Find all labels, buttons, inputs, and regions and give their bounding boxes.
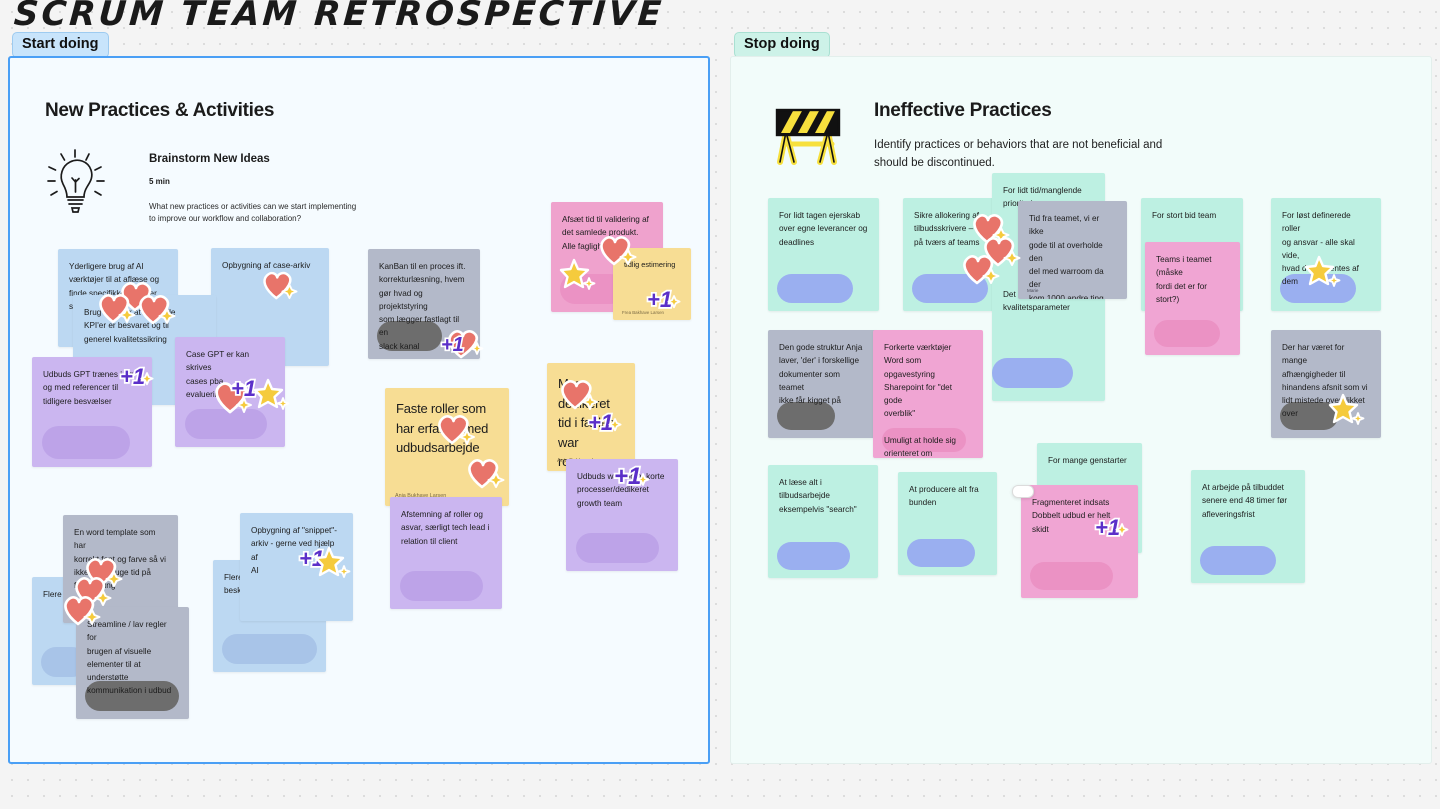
sticky-note[interactable]: Der har været for mange afhængigheder ti…: [1271, 330, 1381, 438]
sticky-note[interactable]: At producere alt fra bunden: [898, 472, 997, 575]
plus-one-reaction-sticker[interactable]: +1: [585, 406, 621, 438]
plus-one-label: +1: [1095, 515, 1120, 540]
heart-reaction-sticker[interactable]: [63, 592, 103, 626]
sticky-note[interactable]: Teams i teamet (måske fordi det er for s…: [1145, 242, 1240, 355]
note-blob: [42, 426, 130, 459]
note-text: Forkerte værktøjer Word som opgavestyrin…: [884, 341, 972, 458]
note-text: Afstemning af roller og asvar, særligt t…: [401, 508, 491, 548]
note-blob: [777, 274, 853, 303]
heading-ineffective-practices: Ineffective Practices: [874, 100, 1051, 122]
plus-one-reaction-sticker[interactable]: +1: [644, 283, 680, 315]
note-blob: [1154, 320, 1220, 347]
barrier-icon: [772, 104, 844, 166]
frame-label-stop-doing[interactable]: Stop doing: [734, 32, 830, 58]
note-blob: [400, 571, 483, 601]
note-text: Teams i teamet (måske fordi det er for s…: [1156, 253, 1229, 306]
heart-reaction-sticker[interactable]: [962, 251, 1002, 285]
plus-one-label: +1: [647, 287, 672, 312]
note-blob: [1200, 546, 1276, 575]
plus-one-reaction-sticker[interactable]: +1: [441, 325, 485, 359]
star-reaction-sticker[interactable]: [1306, 255, 1340, 287]
plus-one-label: +1: [588, 410, 613, 435]
heart-reaction-sticker[interactable]: [98, 290, 138, 324]
plus-one-label: +1: [231, 376, 256, 401]
heart-reaction-sticker[interactable]: [467, 455, 507, 489]
note-author: Marie: [1027, 288, 1039, 293]
note-text: At læse alt i tilbudsarbejde eksempelvis…: [779, 476, 867, 516]
note-text: At producere alt fra bunden: [909, 483, 986, 510]
star-reaction-sticker[interactable]: [255, 378, 289, 410]
activity-duration: 5 min: [149, 177, 170, 186]
plus-one-reaction-sticker[interactable]: +1: [1092, 511, 1128, 543]
sticky-note[interactable]: At arbejde på tilbuddet senere end 48 ti…: [1191, 470, 1305, 583]
activity-description: What new practices or activities can we …: [149, 201, 479, 225]
sticky-note[interactable]: Den gode struktur Anja laver, 'der' i fo…: [768, 330, 878, 438]
note-text: For mange genstarter: [1048, 454, 1131, 467]
note-blob: [907, 539, 975, 567]
plus-one-label: +1: [614, 463, 641, 490]
frame-label-start-doing[interactable]: Start doing: [12, 32, 109, 58]
note-text: Den gode struktur Anja laver, 'der' i fo…: [779, 341, 867, 407]
sticky-note[interactable]: Forkerte værktøjer Word som opgavestyrin…: [873, 330, 983, 458]
note-blob: [777, 542, 850, 570]
note-text: At arbejde på tilbuddet senere end 48 ti…: [1202, 481, 1294, 521]
note-text: Tid fra teamet, vi er ikke gode til at o…: [1029, 212, 1116, 299]
heart-reaction-sticker[interactable]: [599, 232, 639, 266]
star-reaction-sticker[interactable]: [560, 258, 596, 290]
note-blob: [1030, 562, 1113, 590]
heart-reaction-sticker[interactable]: [262, 268, 300, 300]
sticky-note-blob-holder: [992, 355, 1073, 393]
note-text: For stort bid team: [1152, 209, 1232, 222]
note-blob: [222, 634, 317, 664]
sticky-note[interactable]: At læse alt i tilbudsarbejde eksempelvis…: [768, 465, 878, 578]
star-reaction-sticker[interactable]: [1330, 393, 1364, 425]
plus-one-reaction-sticker[interactable]: +1: [611, 459, 649, 491]
star-reaction-sticker[interactable]: [316, 546, 350, 578]
sticky-note[interactable]: Tid fra teamet, vi er ikke gode til at o…: [1018, 201, 1127, 299]
heart-reaction-sticker[interactable]: [559, 376, 601, 410]
heart-reaction-sticker[interactable]: [138, 291, 178, 325]
heart-reaction-sticker[interactable]: [436, 411, 478, 445]
plus-one-label: +1: [441, 334, 464, 356]
note-blob: [576, 533, 659, 563]
note-text: For lidt tagen ejerskab over egne levera…: [779, 209, 868, 249]
activity-title-brainstorm: Brainstorm New Ideas: [149, 153, 270, 165]
lightbulb-icon: [45, 148, 107, 218]
note-blob: [992, 358, 1073, 388]
sticky-note[interactable]: For lidt tagen ejerskab over egne levera…: [768, 198, 879, 311]
board-title: SCRUM TEAM RETROSPECTIVE: [13, 0, 666, 34]
sticky-note[interactable]: Afstemning af roller og asvar, særligt t…: [390, 497, 502, 609]
note-text: Streamline / lav regler for brugen af vi…: [87, 618, 178, 698]
plus-one-reaction-sticker[interactable]: +1: [117, 360, 153, 392]
heading-new-practices: New Practices & Activities: [45, 100, 274, 122]
plus-one-label: +1: [120, 364, 145, 389]
reaction-chip[interactable]: [1012, 485, 1034, 498]
frame-description-stop-doing: Identify practices or behaviors that are…: [874, 137, 1214, 173]
